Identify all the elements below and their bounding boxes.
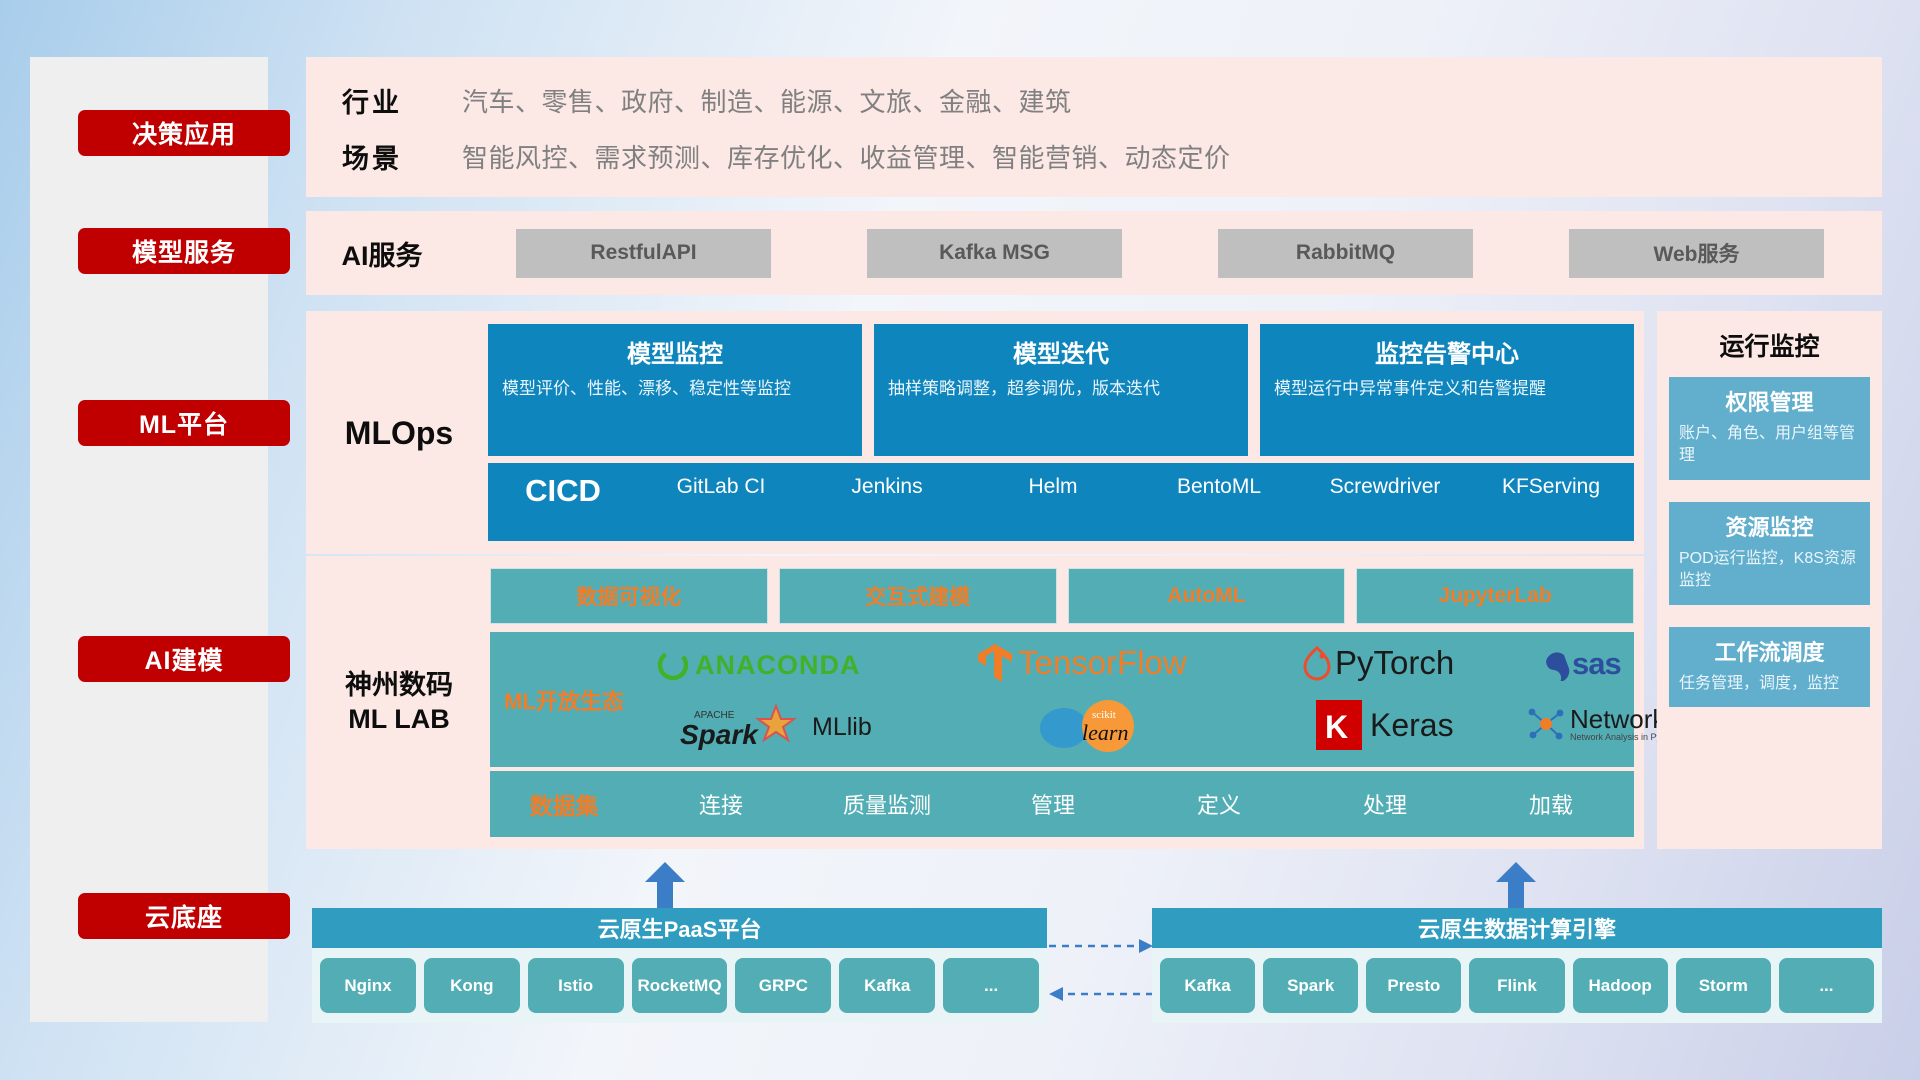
mlops-card-title: 模型监控 xyxy=(502,334,848,369)
sas-logo-text: sas xyxy=(1572,646,1621,682)
data-engine-title: 云原生数据计算引擎 xyxy=(1152,908,1882,948)
ml-ecosystem-row: ML开放生态 ANACONDA TensorFlow xyxy=(490,632,1634,767)
cicd-row: CICD GitLab CI Jenkins Helm BentoML Scre… xyxy=(488,463,1634,541)
mlops-card-title: 模型迭代 xyxy=(888,334,1234,369)
sas-logo: sas xyxy=(1538,646,1621,682)
ml-lab-chip-jupyterlab[interactable]: JupyterLab xyxy=(1356,568,1634,624)
dataset-item-connect[interactable]: 连接 xyxy=(638,788,804,820)
dataset-item-define[interactable]: 定义 xyxy=(1136,788,1302,820)
mlops-card-alert-center[interactable]: 监控告警中心 模型运行中异常事件定义和告警提醒 xyxy=(1260,324,1634,456)
paas-chip-istio[interactable]: Istio xyxy=(528,958,624,1013)
architecture-diagram: 决策应用 模型服务 ML平台 AI建模 云底座 行业 汽车、零售、政府、制造、能… xyxy=(0,0,1920,1080)
data-engine-component-list: Kafka Spark Presto Flink Hadoop Storm ..… xyxy=(1152,948,1882,1023)
svg-text:Spark: Spark xyxy=(680,719,759,750)
industry-key: 行业 xyxy=(342,81,462,120)
rail-item-ai-modeling[interactable]: AI建模 xyxy=(78,636,290,682)
service-chip-rabbitmq[interactable]: RabbitMQ xyxy=(1218,229,1473,278)
ai-service-list: RestfulAPI Kafka MSG RabbitMQ Web服务 xyxy=(458,229,1882,278)
service-chip-web[interactable]: Web服务 xyxy=(1569,229,1824,278)
monitoring-card-title: 资源监控 xyxy=(1679,510,1860,542)
pytorch-logo: PyTorch xyxy=(1302,644,1454,682)
engine-chip-flink[interactable]: Flink xyxy=(1469,958,1564,1013)
industry-band: 行业 汽车、零售、政府、制造、能源、文旅、金融、建筑 场景 智能风控、需求预测、… xyxy=(306,57,1882,197)
dataset-item-list: 连接 质量监测 管理 定义 处理 加载 xyxy=(638,788,1634,820)
anaconda-logo-text: ANACONDA xyxy=(695,650,861,681)
svg-text:K: K xyxy=(1325,709,1348,745)
ml-ecosystem-label: ML开放生态 xyxy=(490,684,638,716)
spark-mllib-logo-text: MLlib xyxy=(812,713,872,742)
scikit-learn-logo: scikit learn xyxy=(1038,698,1166,754)
svg-text:learn: learn xyxy=(1082,720,1128,745)
sas-icon xyxy=(1538,647,1572,681)
scenario-value: 智能风控、需求预测、库存优化、收益管理、智能营销、动态定价 xyxy=(462,138,1231,175)
ml-lab-chip-automl[interactable]: AutoML xyxy=(1068,568,1346,624)
cicd-tool-screwdriver[interactable]: Screwdriver xyxy=(1302,473,1468,501)
arrow-up-icon xyxy=(645,862,685,908)
ai-service-band: AI服务 RestfulAPI Kafka MSG RabbitMQ Web服务 xyxy=(306,211,1882,295)
paas-component-list: Nginx Kong Istio RocketMQ GRPC Kafka ... xyxy=(312,948,1047,1023)
ml-lab-label-line1: 神州数码 xyxy=(345,669,453,703)
mlops-card-list: 模型监控 模型评价、性能、漂移、稳定性等监控 模型迭代 抽样策略调整，超参调优，… xyxy=(488,324,1634,456)
tensorflow-logo-text: TensorFlow xyxy=(1018,644,1187,682)
industry-row: 行业 汽车、零售、政府、制造、能源、文旅、金融、建筑 xyxy=(342,81,1072,120)
rail-item-decision-app[interactable]: 决策应用 xyxy=(78,110,290,156)
arrow-up-paas xyxy=(645,862,685,902)
cicd-tool-gitlab-ci[interactable]: GitLab CI xyxy=(638,473,804,501)
service-chip-restfulapi[interactable]: RestfulAPI xyxy=(516,229,771,278)
tensorflow-icon xyxy=(976,642,1014,684)
rail-item-cloud-base[interactable]: 云底座 xyxy=(78,893,290,939)
anaconda-logo: ANACONDA xyxy=(656,648,861,682)
runtime-monitoring-panel: 运行监控 权限管理 账户、角色、用户组等管理 资源监控 POD运行监控，K8S资… xyxy=(1657,311,1882,849)
dataset-item-manage[interactable]: 管理 xyxy=(970,788,1136,820)
engine-chip-spark[interactable]: Spark xyxy=(1263,958,1358,1013)
mlops-card-model-monitoring[interactable]: 模型监控 模型评价、性能、漂移、稳定性等监控 xyxy=(488,324,862,456)
arrow-up-data-engine xyxy=(1496,862,1536,902)
ml-lab-label-line2: ML LAB xyxy=(345,703,453,737)
paas-data-engine-connector xyxy=(1047,930,1155,1010)
cicd-tool-bentoml[interactable]: BentoML xyxy=(1136,473,1302,501)
scikit-learn-icon: scikit learn xyxy=(1038,698,1166,754)
ai-service-label: AI服务 xyxy=(306,234,458,273)
monitoring-card-workflow[interactable]: 工作流调度 任务管理，调度，监控 xyxy=(1669,627,1870,707)
paas-chip-grpc[interactable]: GRPC xyxy=(735,958,831,1013)
mlops-band: MLOps 模型监控 模型评价、性能、漂移、稳定性等监控 模型迭代 抽样策略调整… xyxy=(306,311,1644,554)
monitoring-card-desc: 账户、角色、用户组等管理 xyxy=(1679,423,1860,468)
mlops-card-desc: 抽样策略调整，超参调优，版本迭代 xyxy=(888,377,1234,402)
dashed-arrows-icon xyxy=(1047,930,1155,1010)
engine-chip-hadoop[interactable]: Hadoop xyxy=(1573,958,1668,1013)
cicd-tool-jenkins[interactable]: Jenkins xyxy=(804,473,970,501)
pytorch-icon xyxy=(1302,645,1332,681)
monitoring-card-desc: 任务管理，调度，监控 xyxy=(1679,673,1860,695)
dataset-item-quality[interactable]: 质量监测 xyxy=(804,788,970,820)
pytorch-logo-text: PyTorch xyxy=(1335,644,1454,682)
cicd-tool-helm[interactable]: Helm xyxy=(970,473,1136,501)
paas-platform-title: 云原生PaaS平台 xyxy=(312,908,1047,948)
dataset-row: 数据集 连接 质量监测 管理 定义 处理 加载 xyxy=(490,771,1634,837)
paas-chip-kafka[interactable]: Kafka xyxy=(839,958,935,1013)
mlops-card-model-iteration[interactable]: 模型迭代 抽样策略调整，超参调优，版本迭代 xyxy=(874,324,1248,456)
ml-ecosystem-logo-list: ANACONDA TensorFlow PyTorch xyxy=(638,632,1634,767)
monitoring-card-resource[interactable]: 资源监控 POD运行监控，K8S资源监控 xyxy=(1669,502,1870,605)
monitoring-card-permission[interactable]: 权限管理 账户、角色、用户组等管理 xyxy=(1669,377,1870,480)
service-chip-kafka-msg[interactable]: Kafka MSG xyxy=(867,229,1122,278)
dataset-item-process[interactable]: 处理 xyxy=(1302,788,1468,820)
mlops-card-desc: 模型运行中异常事件定义和告警提醒 xyxy=(1274,377,1620,402)
monitoring-card-title: 权限管理 xyxy=(1679,385,1860,417)
arrow-up-icon xyxy=(1496,862,1536,908)
rail-item-model-service[interactable]: 模型服务 xyxy=(78,228,290,274)
dataset-item-load[interactable]: 加载 xyxy=(1468,788,1634,820)
mlops-label: MLOps xyxy=(314,311,484,554)
scenario-key: 场景 xyxy=(342,137,462,176)
cicd-tool-list: GitLab CI Jenkins Helm BentoML Screwdriv… xyxy=(638,473,1634,501)
layer-rail: 决策应用 模型服务 ML平台 AI建模 云底座 xyxy=(30,57,268,1022)
ml-lab-chip-data-visualization[interactable]: 数据可视化 xyxy=(490,568,768,624)
industry-value: 汽车、零售、政府、制造、能源、文旅、金融、建筑 xyxy=(462,82,1072,119)
ai-modeling-band: 神州数码 ML LAB 数据可视化 交互式建模 AutoML JupyterLa… xyxy=(306,556,1644,849)
engine-chip-kafka[interactable]: Kafka xyxy=(1160,958,1255,1013)
ml-lab-label: 神州数码 ML LAB xyxy=(314,556,484,849)
monitoring-card-desc: POD运行监控，K8S资源监控 xyxy=(1679,548,1860,593)
ml-lab-chip-list: 数据可视化 交互式建模 AutoML JupyterLab xyxy=(490,568,1634,624)
monitoring-card-title: 工作流调度 xyxy=(1679,635,1860,667)
cicd-label: CICD xyxy=(488,473,638,509)
paas-chip-more[interactable]: ... xyxy=(943,958,1039,1013)
paas-chip-rocketmq[interactable]: RocketMQ xyxy=(632,958,728,1013)
cicd-tool-kfserving[interactable]: KFServing xyxy=(1468,473,1634,501)
mlops-card-title: 监控告警中心 xyxy=(1274,334,1620,369)
engine-chip-more[interactable]: ... xyxy=(1779,958,1874,1013)
tensorflow-logo: TensorFlow xyxy=(976,642,1187,684)
paas-chip-kong[interactable]: Kong xyxy=(424,958,520,1013)
mlops-card-desc: 模型评价、性能、漂移、稳定性等监控 xyxy=(502,377,848,402)
paas-platform-box: 云原生PaaS平台 Nginx Kong Istio RocketMQ GRPC… xyxy=(312,908,1047,1023)
spark-mllib-logo: APACHE Spark MLlib xyxy=(680,702,872,752)
anaconda-icon xyxy=(656,648,690,682)
keras-icon: K xyxy=(1316,700,1362,750)
data-engine-box: 云原生数据计算引擎 Kafka Spark Presto Flink Hadoo… xyxy=(1152,908,1882,1023)
keras-logo-text: Keras xyxy=(1370,707,1454,744)
ml-lab-chip-interactive-modeling[interactable]: 交互式建模 xyxy=(779,568,1057,624)
engine-chip-presto[interactable]: Presto xyxy=(1366,958,1461,1013)
runtime-monitoring-header: 运行监控 xyxy=(1657,311,1882,377)
networkx-icon xyxy=(1526,704,1566,744)
engine-chip-storm[interactable]: Storm xyxy=(1676,958,1771,1013)
dataset-label: 数据集 xyxy=(490,787,638,821)
scenario-row: 场景 智能风控、需求预测、库存优化、收益管理、智能营销、动态定价 xyxy=(342,137,1231,176)
rail-item-ml-platform[interactable]: ML平台 xyxy=(78,400,290,446)
spark-icon: APACHE Spark xyxy=(680,702,810,752)
paas-chip-nginx[interactable]: Nginx xyxy=(320,958,416,1013)
keras-logo: K Keras xyxy=(1316,700,1454,750)
